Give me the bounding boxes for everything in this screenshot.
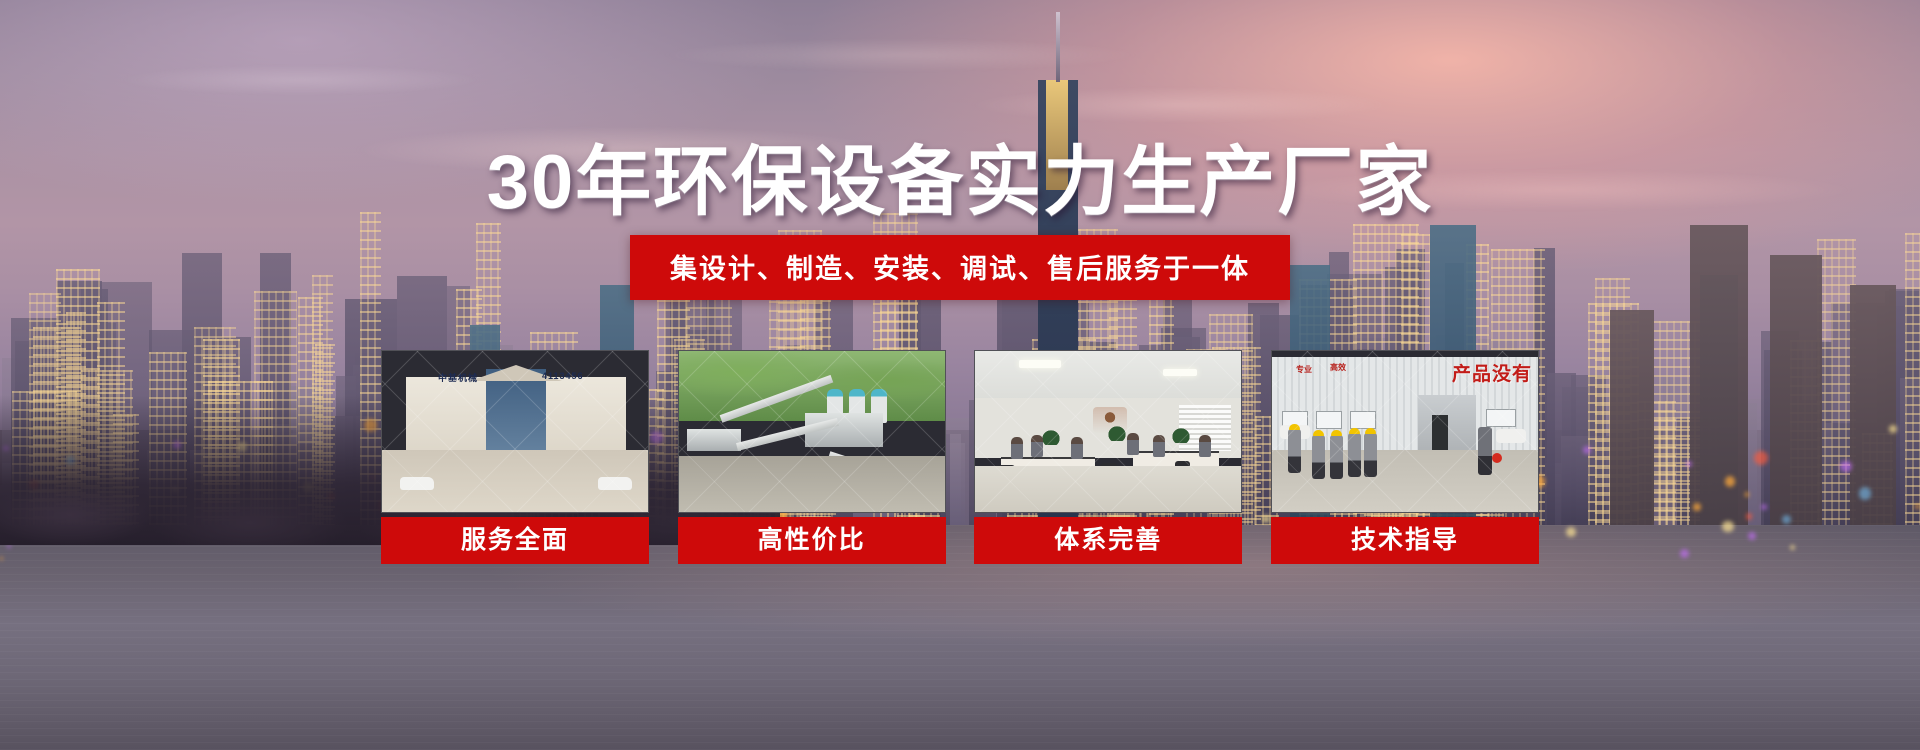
feature-card-row: 中基机械 4113456 服务全面 (381, 350, 1539, 564)
building-phone-text: 4113456 (542, 371, 584, 381)
feature-card[interactable]: 产品没有 专业 高效 技术指导 (1271, 350, 1539, 564)
page-title: 30年环保设备实力生产厂家 (0, 120, 1920, 230)
feature-card[interactable]: 体系完善 (974, 350, 1242, 564)
building-sign-text: 中基机械 (438, 371, 478, 384)
company-office-building-photo: 中基机械 4113456 (381, 350, 649, 513)
hero-banner: 30年环保设备实力生产厂家 集设计、制造、安装、调试、售后服务于一体 中基机械 … (0, 0, 1920, 750)
factory-yard-workers-photo: 产品没有 专业 高效 (1271, 350, 1539, 513)
wall-slogan-left-text: 专业 (1296, 365, 1312, 374)
feature-card-label: 服务全面 (381, 517, 649, 564)
office-interior-staff-photo (974, 350, 1242, 513)
feature-card[interactable]: 中基机械 4113456 服务全面 (381, 350, 649, 564)
feature-card[interactable]: 高性价比 (678, 350, 946, 564)
subtitle-row: 集设计、制造、安装、调试、售后服务于一体 (0, 235, 1920, 300)
wall-slogan-mid-text: 高效 (1330, 363, 1346, 372)
wall-slogan-text: 产品没有 (1452, 359, 1532, 386)
aerial-production-plant-photo (678, 350, 946, 513)
feature-card-label: 技术指导 (1271, 517, 1539, 564)
feature-card-label: 高性价比 (678, 517, 946, 564)
feature-card-label: 体系完善 (974, 517, 1242, 564)
subtitle-badge: 集设计、制造、安装、调试、售后服务于一体 (630, 235, 1290, 300)
